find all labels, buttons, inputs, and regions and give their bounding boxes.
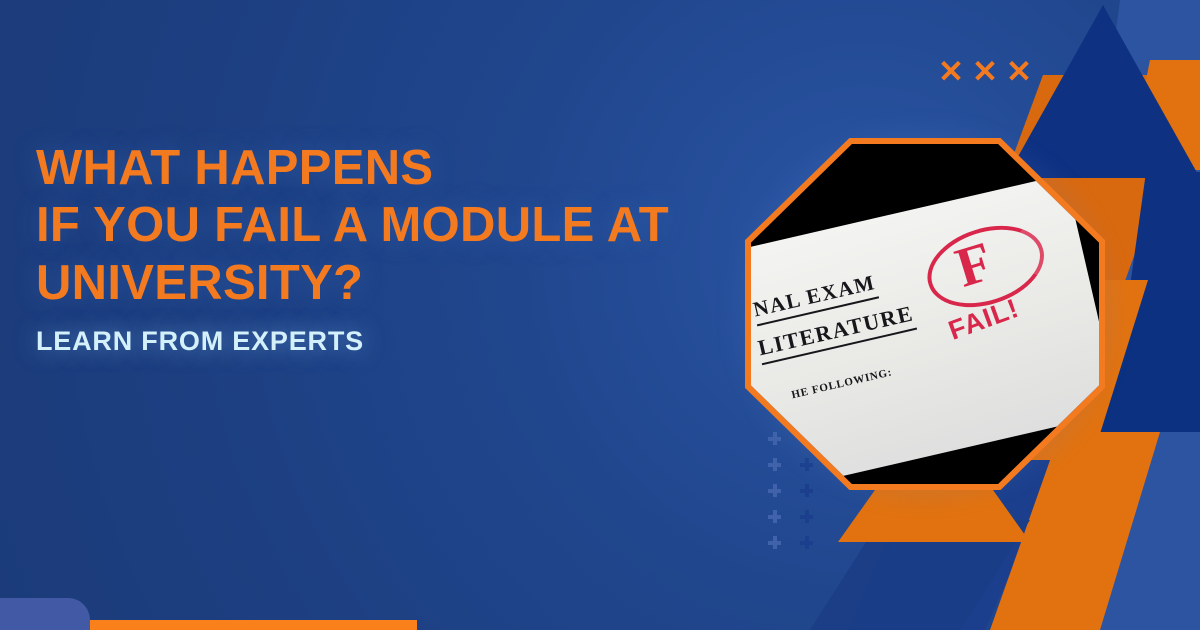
- cross-icon: ✕: [1006, 56, 1031, 87]
- x-marks-decoration: ✕ ✕ ✕: [938, 56, 1031, 87]
- cross-icon: ✕: [972, 56, 997, 87]
- frame-border: NAL EXAM LITERATURE HE FOLLOWING: F FAIL…: [745, 138, 1105, 490]
- exam-instruction-text: HE FOLLOWING:: [790, 366, 893, 401]
- failing-grade-mark: F FAIL!: [919, 216, 1062, 356]
- cross-icon: ✕: [938, 56, 963, 87]
- page-title: WHAT HAPPENS IF YOU FAIL A MODULE AT UNI…: [36, 140, 776, 312]
- bottom-orange-bar: [90, 620, 417, 630]
- headline-line-3: UNIVERSITY?: [36, 255, 776, 312]
- bottom-left-rounded-block: [0, 598, 90, 630]
- plus-icon: [800, 536, 813, 549]
- headline-line-2: IF YOU FAIL A MODULE AT: [36, 197, 776, 254]
- plus-icon: [768, 536, 781, 549]
- promo-banner: ✕ ✕ ✕ NAL EXAM LITERATURE: [0, 0, 1200, 630]
- photo-area: NAL EXAM LITERATURE HE FOLLOWING: F FAIL…: [751, 144, 1099, 484]
- octagon-photo-frame: NAL EXAM LITERATURE HE FOLLOWING: F FAIL…: [745, 138, 1105, 490]
- headline-line-1: WHAT HAPPENS: [36, 140, 776, 197]
- exam-paper-photo: NAL EXAM LITERATURE HE FOLLOWING: F FAIL…: [751, 174, 1099, 484]
- subheading: LEARN FROM EXPERTS: [36, 326, 776, 357]
- headline-block: WHAT HAPPENS IF YOU FAIL A MODULE AT UNI…: [36, 140, 776, 357]
